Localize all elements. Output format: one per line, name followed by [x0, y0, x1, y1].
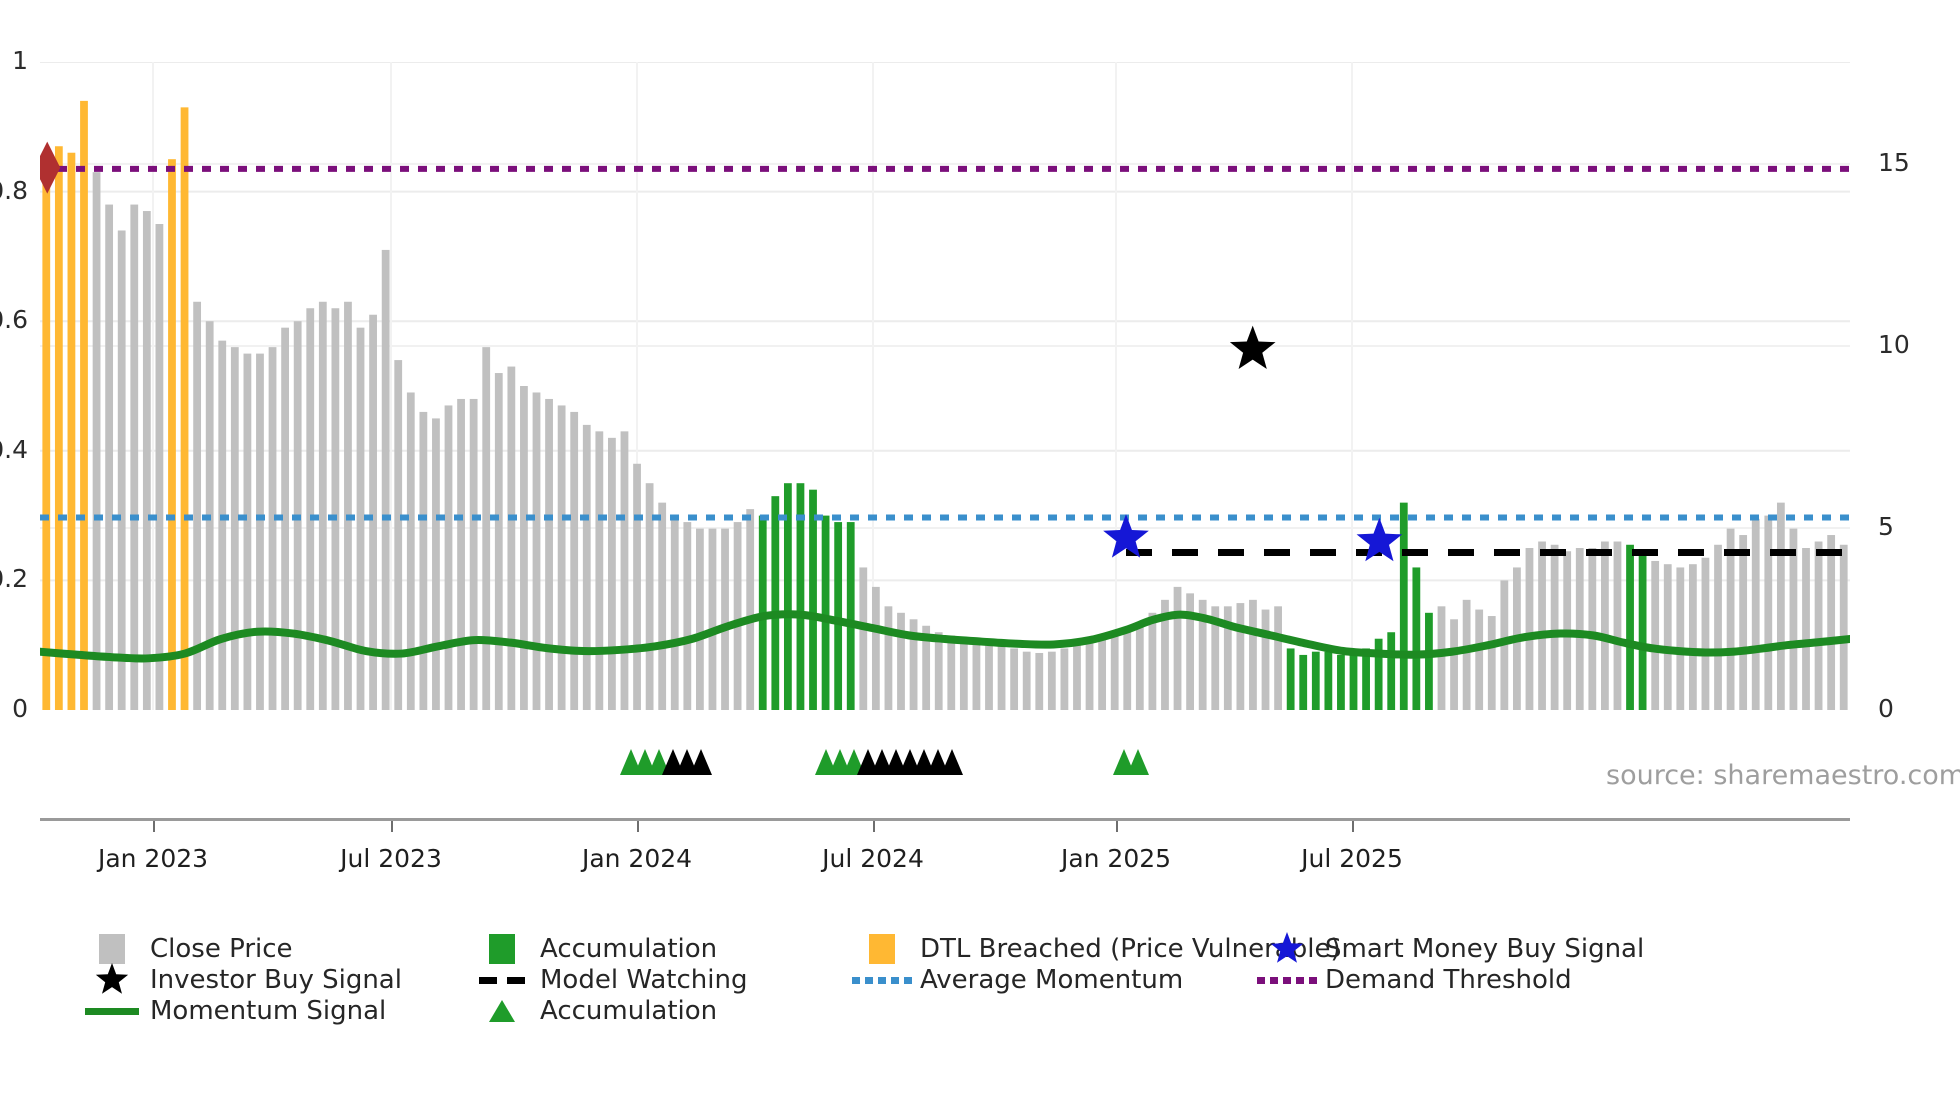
y-axis-right-tick: 15 — [1878, 150, 1910, 175]
source-attribution: source: sharemaestro.com — [1606, 760, 1960, 791]
close-price-bar — [608, 438, 616, 710]
close-price-bar — [1802, 548, 1810, 710]
x-axis-tick-mark — [1352, 821, 1354, 832]
accumulation-triangle-black[interactable] — [941, 749, 963, 775]
close-price-bar — [1626, 545, 1634, 710]
close-price-bar — [658, 503, 666, 710]
close-price-bar — [947, 635, 955, 710]
close-price-bar — [583, 425, 591, 710]
y-axis-right-tick: 5 — [1878, 514, 1894, 539]
close-price-bar — [998, 645, 1006, 710]
dot-segment — [1309, 977, 1317, 984]
close-price-bar — [1387, 632, 1395, 710]
close-price-bar — [331, 308, 339, 710]
close-price-bar — [847, 522, 855, 710]
close-price-bar — [533, 392, 541, 710]
star-icon — [84, 965, 140, 995]
x-axis-tick-label: Jul 2025 — [1301, 846, 1403, 871]
dot-segment — [1296, 977, 1304, 984]
legend-row: Momentum SignalAccumulation — [84, 992, 1884, 1030]
x-axis-line — [40, 818, 1850, 821]
x-axis-tick-mark — [153, 821, 155, 832]
close-price-bar — [1551, 545, 1559, 710]
legend-label: Demand Threshold — [1325, 967, 1572, 993]
close-price-bar — [1123, 632, 1131, 710]
solid-line-icon — [84, 996, 140, 1026]
close-price-bar — [973, 642, 981, 710]
triangle-icon — [489, 1000, 515, 1022]
x-axis-tick-label: Jan 2023 — [98, 846, 208, 871]
legend-label: Model Watching — [540, 967, 747, 993]
close-price-bar — [432, 418, 440, 710]
close-price-bar — [1035, 653, 1043, 710]
close-price-bar — [1400, 503, 1408, 710]
y-axis-left-tick: 0.6 — [0, 307, 28, 332]
close-price-bar — [1538, 542, 1546, 710]
close-price-bar — [746, 509, 754, 710]
dot-segment — [904, 977, 912, 984]
close-price-bar — [457, 399, 465, 710]
close-price-bar — [872, 587, 880, 710]
close-price-bar — [1714, 545, 1722, 710]
close-price-bar — [118, 230, 126, 710]
chart-canvas — [40, 62, 1850, 710]
close-price-bar — [595, 431, 603, 710]
legend-label: Investor Buy Signal — [150, 967, 402, 993]
close-price-bar — [960, 639, 968, 710]
close-price-bar — [1048, 652, 1056, 710]
close-price-bar — [1702, 558, 1710, 710]
close-price-bar — [1324, 652, 1332, 710]
solid-line-icon — [85, 1008, 139, 1015]
square-swatch-icon — [99, 934, 125, 964]
close-price-bar — [935, 632, 943, 710]
close-price-bar — [1136, 626, 1144, 710]
close-price-bar — [1815, 542, 1823, 710]
dotted-line-icon — [852, 977, 912, 984]
dot-segment — [865, 977, 873, 984]
star-icon — [1259, 934, 1315, 964]
close-price-bar — [1601, 542, 1609, 710]
dot-segment — [891, 977, 899, 984]
legend-label: Accumulation — [540, 936, 717, 962]
legend-label: Accumulation — [540, 998, 717, 1024]
close-price-bar — [445, 405, 453, 710]
star-icon — [96, 963, 128, 994]
star-icon — [1271, 932, 1303, 963]
x-axis-tick-mark — [873, 821, 875, 832]
close-price-bar — [885, 606, 893, 710]
close-price-bar — [507, 367, 515, 710]
square-swatch-icon — [84, 934, 140, 964]
close-price-bar — [1086, 642, 1094, 710]
close-price-bar — [709, 529, 717, 710]
close-price-bar — [771, 496, 779, 710]
accumulation-triangle-strip — [40, 735, 1850, 780]
y-axis-left-tick: 1 — [12, 48, 28, 73]
close-price-bar — [859, 567, 867, 710]
close-price-bar — [1739, 535, 1747, 710]
close-price-bar — [1676, 567, 1684, 710]
accumulation-triangle-black[interactable] — [690, 749, 712, 775]
close-price-bar — [1764, 516, 1772, 710]
close-price-bar — [1412, 567, 1420, 710]
close-price-bar — [319, 302, 327, 710]
dotted-line-icon — [854, 965, 910, 995]
close-price-bar — [1023, 652, 1031, 710]
close-price-bar — [822, 516, 830, 710]
dot-segment — [878, 977, 886, 984]
legend-label: Close Price — [150, 936, 293, 962]
x-axis-tick-label: Jan 2024 — [582, 846, 692, 871]
close-price-bar — [897, 613, 905, 710]
marker-investor-buy-signal[interactable] — [1230, 326, 1276, 369]
close-price-bar — [1639, 554, 1647, 710]
close-price-bar — [1752, 519, 1760, 710]
close-price-bar — [834, 522, 842, 710]
y-axis-right-tick: 0 — [1878, 696, 1894, 721]
close-price-bar — [1149, 613, 1157, 710]
close-price-bar — [1111, 635, 1119, 710]
x-axis-tick-mark — [637, 821, 639, 832]
close-price-bar — [269, 347, 277, 710]
close-price-bar — [93, 172, 101, 710]
close-price-bar — [419, 412, 427, 710]
close-price-bar — [1299, 655, 1307, 710]
close-price-bar — [1061, 648, 1069, 710]
close-price-bar — [1174, 587, 1182, 710]
close-price-bar — [1425, 613, 1433, 710]
dotted-line-icon — [1259, 965, 1315, 995]
close-price-bar — [621, 431, 629, 710]
close-price-bar — [231, 347, 239, 710]
close-price-bar — [683, 522, 691, 710]
close-price-bar — [734, 522, 742, 710]
close-price-bar — [671, 516, 679, 710]
dashed-line-icon — [474, 965, 530, 995]
close-price-bar — [1010, 648, 1018, 710]
close-price-bar — [1475, 610, 1483, 710]
legend-label: Smart Money Buy Signal — [1325, 936, 1644, 962]
close-price-bar — [80, 101, 88, 710]
close-price-bar — [1438, 606, 1446, 710]
close-price-bar — [306, 308, 314, 710]
close-price-bar — [130, 205, 138, 710]
close-price-bar — [382, 250, 390, 710]
close-price-bar — [1312, 652, 1320, 710]
legend-label: Momentum Signal — [150, 998, 386, 1024]
close-price-bar — [1840, 545, 1848, 710]
close-price-bar — [1274, 606, 1282, 710]
close-price-bar — [1262, 610, 1270, 710]
dot-segment — [1270, 977, 1278, 984]
close-price-bar — [1350, 652, 1358, 710]
close-price-bar — [105, 205, 113, 710]
dash-segment — [507, 977, 525, 984]
x-axis-tick-label: Jan 2025 — [1061, 846, 1171, 871]
close-price-bar — [407, 392, 415, 710]
y-axis-left-tick: 0.8 — [0, 178, 28, 203]
close-price-bar — [721, 529, 729, 710]
close-price-bar — [1488, 616, 1496, 710]
close-price-bar — [1588, 548, 1596, 710]
x-axis-tick-mark — [1116, 821, 1118, 832]
close-price-bar — [1073, 645, 1081, 710]
close-price-bar — [1689, 564, 1697, 710]
close-price-bar — [470, 399, 478, 710]
close-price-bar — [1664, 564, 1672, 710]
close-price-bar — [1651, 561, 1659, 710]
dashed-line-icon — [479, 977, 525, 984]
close-price-bar — [55, 146, 63, 710]
chart-page: { "source_note": "source: sharemaestro.c… — [0, 0, 1960, 1102]
close-price-bar — [68, 153, 76, 710]
dash-segment — [479, 977, 497, 984]
x-axis-tick-label: Jul 2024 — [822, 846, 924, 871]
close-price-bar — [1249, 600, 1257, 710]
y-axis-left-tick: 0.4 — [0, 437, 28, 462]
y-axis-right-tick: 10 — [1878, 332, 1910, 357]
close-price-bar — [1337, 655, 1345, 710]
accumulation-triangle-green[interactable] — [1127, 749, 1149, 775]
square-swatch-icon — [854, 934, 910, 964]
close-price-bar — [168, 159, 176, 710]
close-price-bar — [256, 354, 264, 710]
close-price-bar — [985, 645, 993, 710]
close-price-bar — [143, 211, 151, 710]
close-price-bar — [570, 412, 578, 710]
triangle-icon — [474, 996, 530, 1026]
dot-segment — [852, 977, 860, 984]
close-price-bar — [482, 347, 490, 710]
close-price-bar — [1450, 619, 1458, 710]
square-swatch-icon — [474, 934, 530, 964]
y-axis-left-tick: 0.2 — [0, 566, 28, 591]
close-price-bar — [495, 373, 503, 710]
square-swatch-icon — [489, 934, 515, 964]
close-price-bar — [545, 399, 553, 710]
close-price-bar — [520, 386, 528, 710]
close-price-bar — [1236, 603, 1244, 710]
close-price-bar — [1827, 535, 1835, 710]
dotted-line-icon — [1257, 977, 1317, 984]
y-axis-left-tick: 0 — [12, 696, 28, 721]
close-price-bar — [244, 354, 252, 710]
close-price-bar — [1526, 548, 1534, 710]
close-price-bar — [1186, 593, 1194, 710]
close-price-bar — [1287, 648, 1295, 710]
close-price-bar — [1463, 600, 1471, 710]
close-price-bar — [181, 107, 189, 710]
close-price-bar — [558, 405, 566, 710]
close-price-bar — [1614, 542, 1622, 710]
legend-momentum-signal[interactable]: Momentum Signal — [84, 992, 386, 1030]
close-price-bar — [1362, 648, 1370, 710]
x-axis-tick-mark — [391, 821, 393, 832]
close-price-bar — [42, 153, 50, 710]
close-price-bar — [1576, 548, 1584, 710]
triangle-icon — [485, 996, 519, 1026]
legend-accumulation-triangle[interactable]: Accumulation — [474, 992, 717, 1030]
chart-legend: Close PriceAccumulationDTL Breached (Pri… — [84, 930, 1884, 1050]
dot-segment — [1283, 977, 1291, 984]
close-price-bar — [696, 529, 704, 710]
close-price-bar — [633, 464, 641, 710]
dot-segment — [1257, 977, 1265, 984]
close-price-bar — [809, 490, 817, 710]
close-price-bar — [1098, 639, 1106, 710]
chart-plot-area — [40, 62, 1850, 710]
legend-label: Average Momentum — [920, 967, 1183, 993]
close-price-bar — [1777, 503, 1785, 710]
square-swatch-icon — [869, 934, 895, 964]
close-price-bar — [218, 341, 226, 710]
close-price-bar — [156, 224, 164, 710]
x-axis-tick-label: Jul 2023 — [340, 846, 442, 871]
